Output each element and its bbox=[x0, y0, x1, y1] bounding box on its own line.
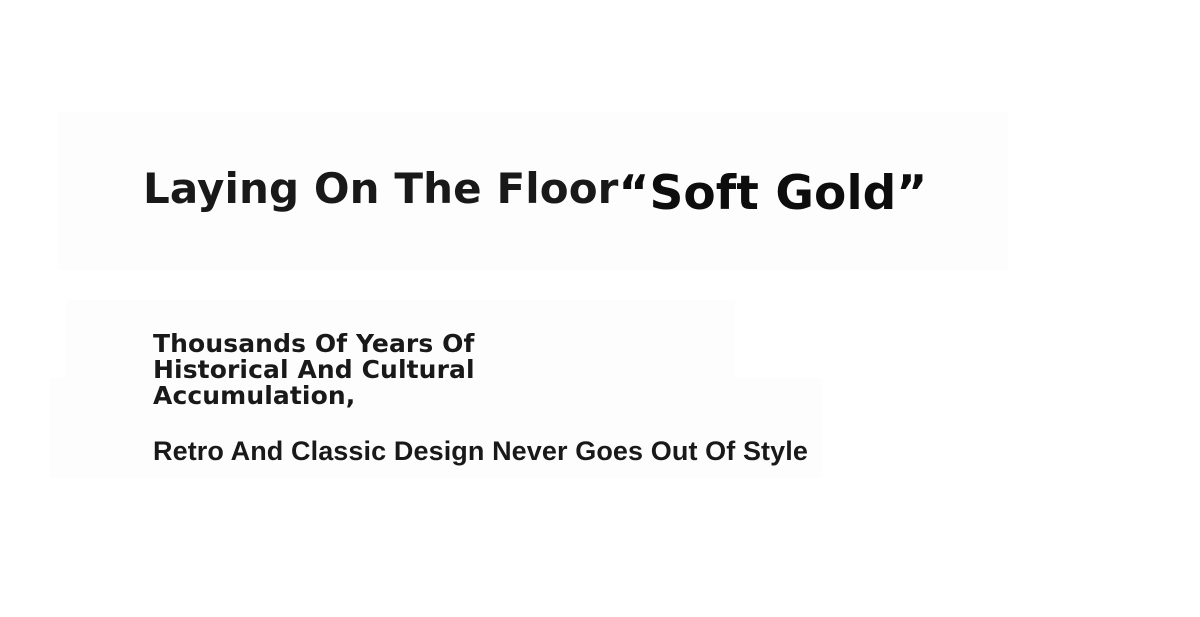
page-title: Laying On The Floor“Soft Gold” bbox=[143, 164, 927, 211]
body-paragraph-primary: Thousands Of Years Of Historical And Cul… bbox=[153, 331, 593, 409]
banner-canvas: Laying On The Floor“Soft Gold” Thousands… bbox=[0, 0, 1200, 617]
body-paragraph-secondary: Retro And Classic Design Never Goes Out … bbox=[153, 409, 853, 466]
page-title-accent: “Soft Gold” bbox=[618, 166, 927, 221]
page-title-main: Laying On The Floor bbox=[143, 164, 618, 213]
body-copy: Thousands Of Years Of Historical And Cul… bbox=[153, 331, 853, 466]
